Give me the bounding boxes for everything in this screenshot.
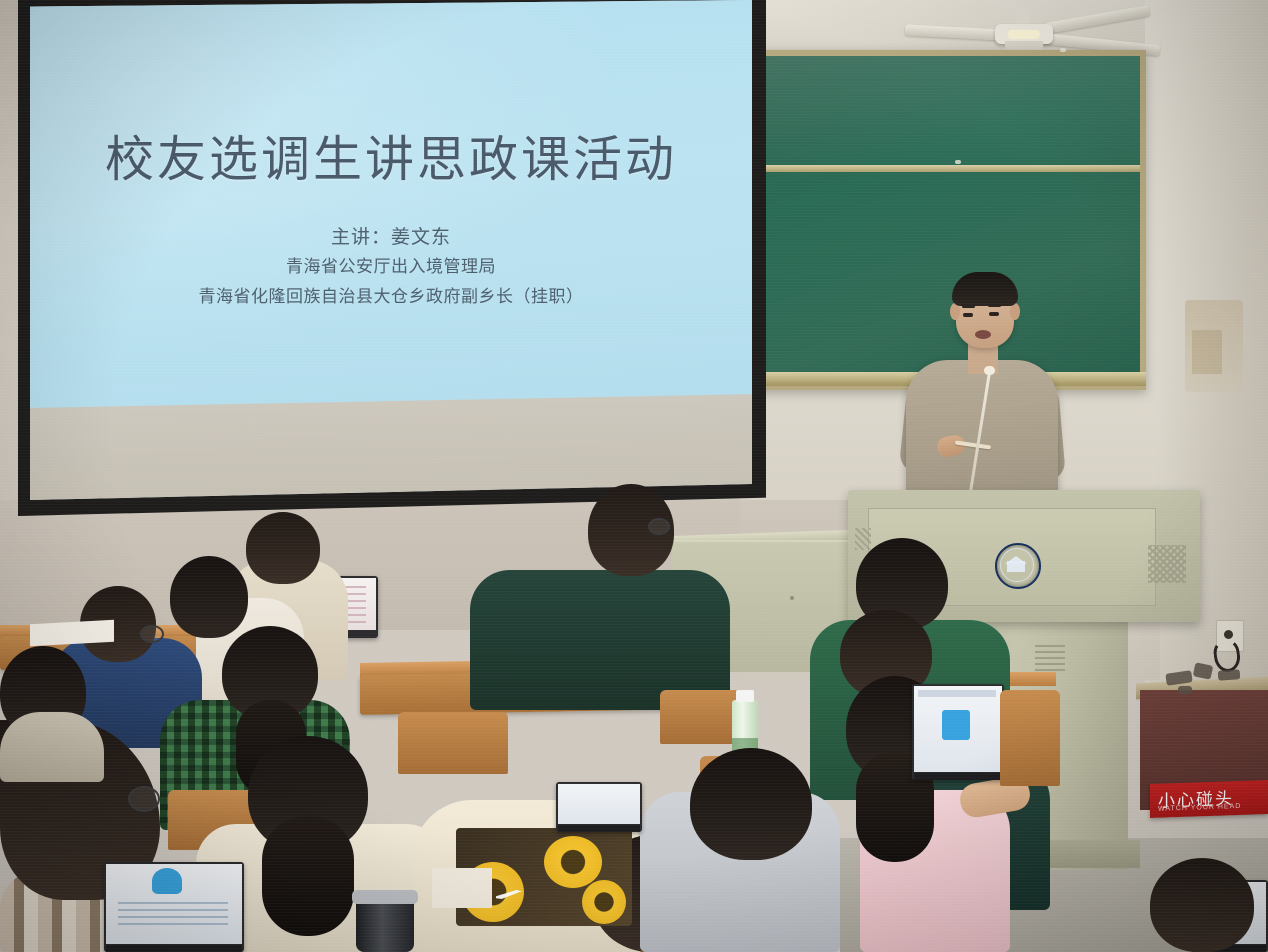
speaker-eyebrow [988, 304, 1001, 307]
speaker-person [0, 0, 1268, 560]
laptop-base [914, 773, 1002, 780]
podium-vent-slits [1035, 645, 1065, 671]
sign-text-english: WATCH YOUR HEAD [1158, 803, 1241, 813]
podium-speaker-grille [855, 528, 871, 550]
sunflower-motif [544, 836, 602, 888]
laptop-base [558, 825, 640, 832]
watch-your-head-sign: 小心碰头 WATCH YOUR HEAD [1150, 780, 1268, 818]
podium-diamond-vent [1148, 545, 1186, 583]
wall-damage-area [1160, 660, 1256, 698]
student-head [246, 512, 320, 584]
eyeglasses-icon [648, 518, 670, 535]
eyeglasses-icon [140, 625, 164, 643]
seat-back [1000, 690, 1060, 786]
laptop[interactable] [912, 684, 1004, 780]
emblem-building [1007, 561, 1025, 572]
laptop-text-lines [118, 902, 228, 928]
microphone-head [984, 366, 995, 375]
laptop-content-graphic [152, 868, 182, 894]
speaker-eyebrow [962, 305, 975, 308]
speaker-eye [989, 312, 999, 316]
bottle-cap [736, 690, 754, 702]
sunflower-motif [582, 880, 626, 924]
travel-mug[interactable] [356, 898, 414, 952]
speaker-mouth [975, 330, 991, 339]
student-head [690, 748, 812, 860]
speaker-eye [963, 313, 973, 317]
seat-back [398, 712, 508, 774]
laptop-taskbar [106, 945, 242, 952]
speaker-torso [906, 360, 1058, 506]
student-head [170, 556, 248, 638]
university-seal-emblem [995, 543, 1041, 589]
outlet-socket-hole [1224, 630, 1233, 639]
laptop[interactable] [104, 862, 244, 952]
eyeglasses-icon [128, 786, 160, 812]
laptop[interactable] [556, 782, 642, 832]
student-head [1150, 858, 1254, 952]
lecture-hall-photo: 校友选调生讲思政课活动 主讲：姜文东 青海省公安厅出入境管理局 青海省化隆回族自… [0, 0, 1268, 952]
student-torso [0, 712, 104, 782]
laptop-screen [558, 784, 640, 824]
laptop-toolbar [918, 690, 996, 697]
travel-mug-lid [352, 890, 418, 904]
paper-sheet [30, 620, 114, 646]
laptop-content-graphic [942, 710, 970, 740]
paper-sheet [432, 868, 492, 908]
student-dark-green-torso [470, 570, 730, 710]
cabinet-screw [790, 596, 794, 600]
speaker-hair [952, 272, 1018, 306]
student-ponytail [262, 816, 354, 936]
